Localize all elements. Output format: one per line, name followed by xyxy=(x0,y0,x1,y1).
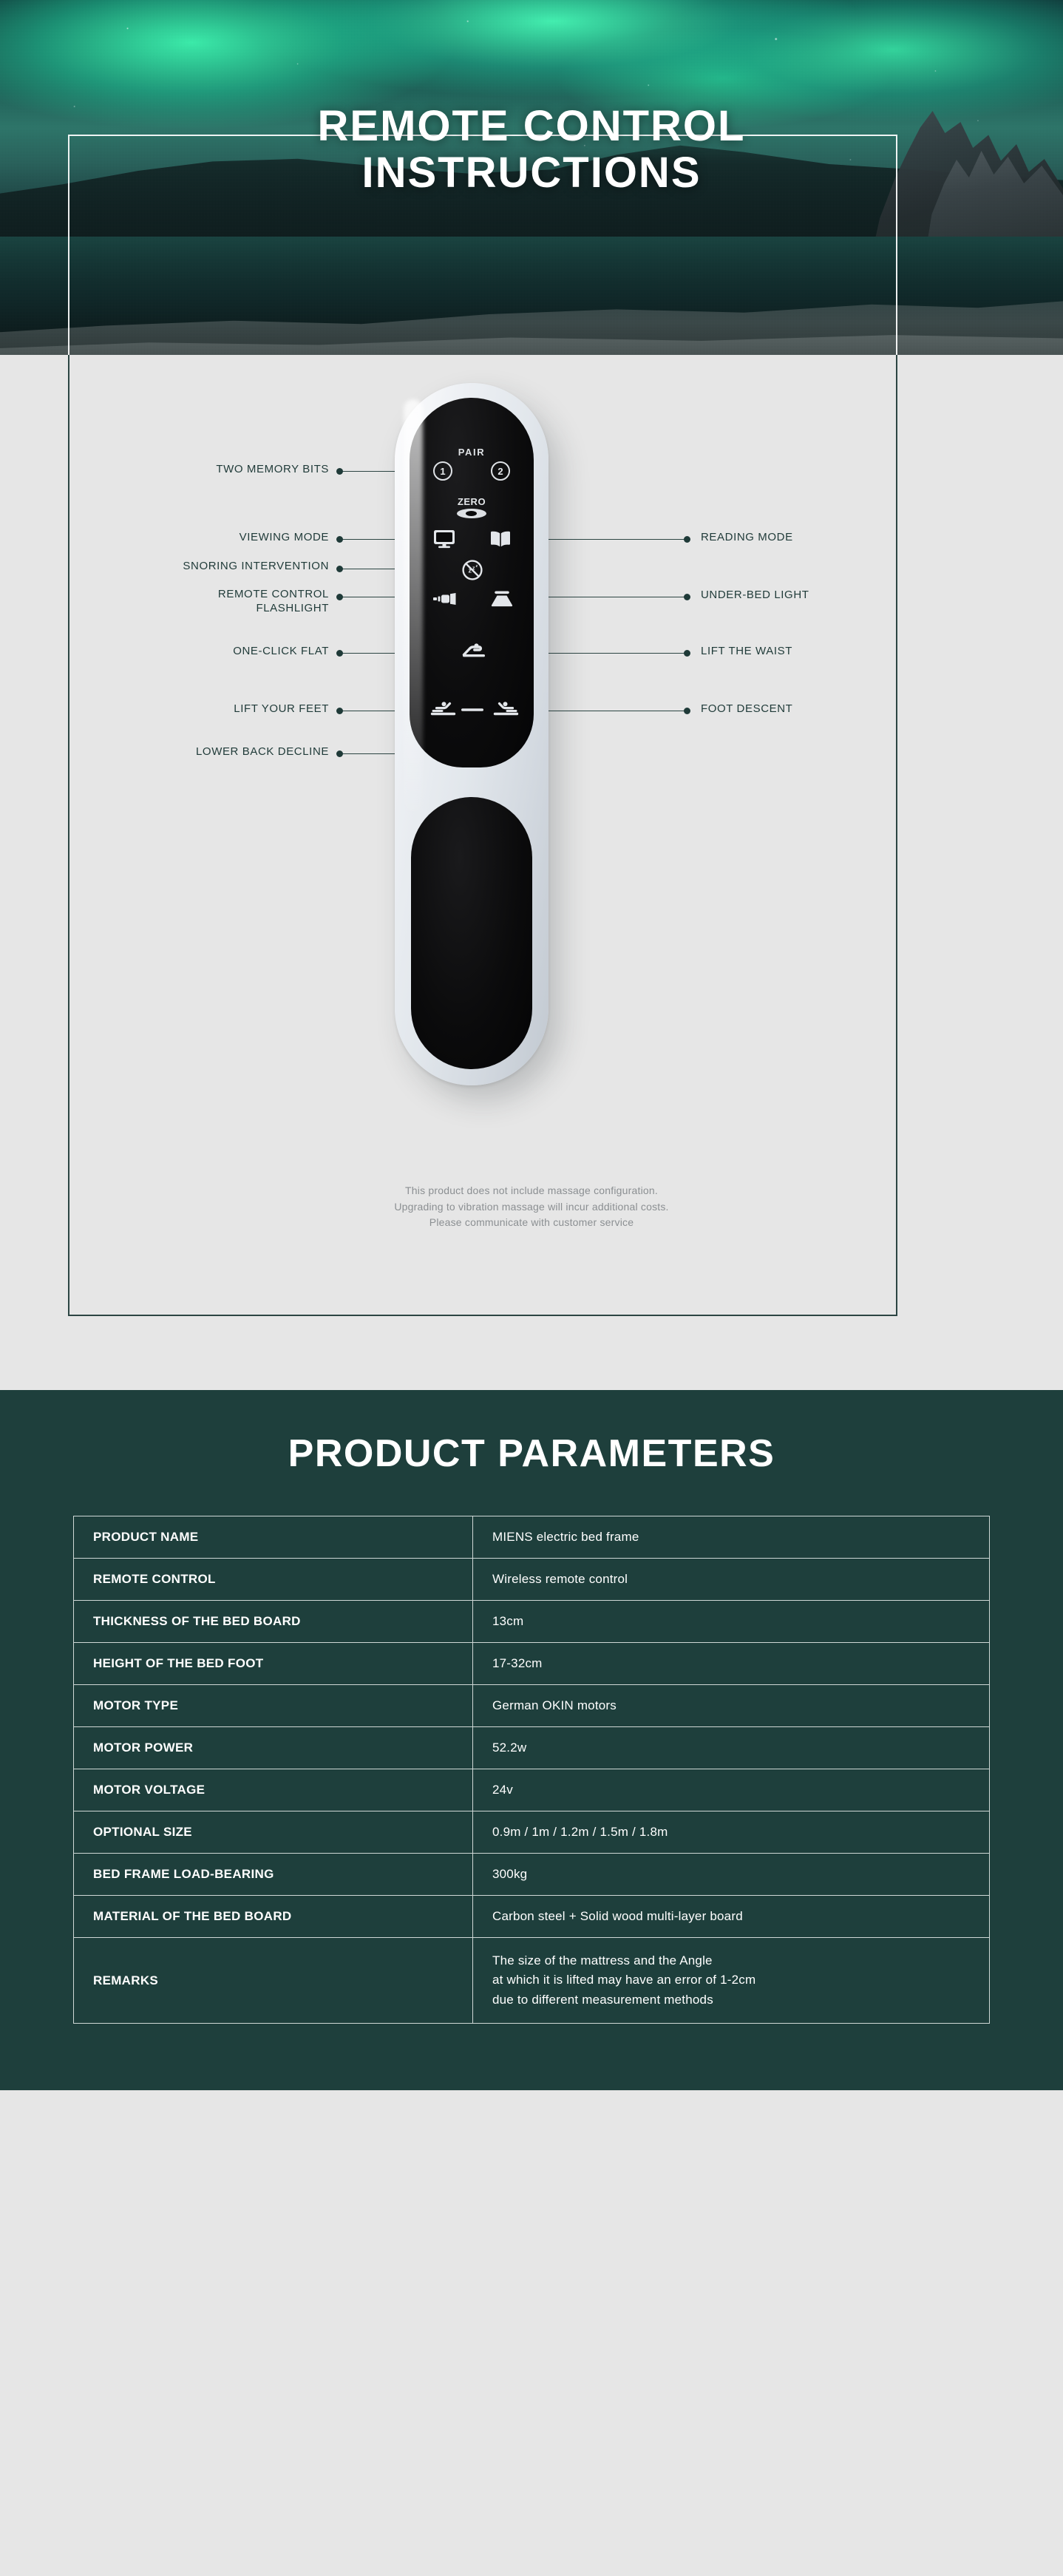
memory-button-1[interactable]: 1 xyxy=(433,461,452,481)
table-row: MATERIAL OF THE BED BOARD Carbon steel +… xyxy=(74,1896,990,1938)
spec-value: Wireless remote control xyxy=(473,1559,990,1601)
callout-dot-lift-your-feet xyxy=(336,708,343,714)
remote-lower-black-panel xyxy=(411,797,532,1069)
memory-2-circle: 2 xyxy=(491,461,510,481)
callout-label-reading-mode: READING MODE xyxy=(701,531,952,545)
callout-label-lower-back-decline: LOWER BACK DECLINE xyxy=(85,745,329,759)
table-row: HEIGHT OF THE BED FOOT 17-32cm xyxy=(74,1643,990,1685)
spec-value: 17-32cm xyxy=(473,1643,990,1685)
callout-label-viewing-mode: VIEWING MODE xyxy=(107,531,329,545)
page-title-line-2: INSTRUCTIONS xyxy=(103,150,960,197)
callout-dot-one-click-flat xyxy=(336,650,343,657)
callout-label-flashlight-line-2: FLASHLIGHT xyxy=(92,602,329,616)
spec-value: 24v xyxy=(473,1769,990,1811)
callout-dot-lower-back-decline xyxy=(336,750,343,757)
spec-value: 13cm xyxy=(473,1601,990,1643)
callout-dot-viewing-mode xyxy=(336,536,343,543)
spec-key: MOTOR POWER xyxy=(74,1727,473,1769)
spec-value: 0.9m / 1m / 1.2m / 1.5m / 1.8m xyxy=(473,1811,990,1854)
spec-value: MIENS electric bed frame xyxy=(473,1516,990,1559)
remarks-line-3: due to different measurement methods xyxy=(492,1990,970,2010)
memory-1-circle: 1 xyxy=(433,461,452,481)
remarks-line-1: The size of the mattress and the Angle xyxy=(492,1951,970,1970)
memory-1-label: 1 xyxy=(440,466,445,477)
svg-text:z: z xyxy=(469,567,472,574)
memory-2-label: 2 xyxy=(497,466,503,477)
callout-label-snoring-intervention: SNORING INTERVENTION xyxy=(70,560,329,574)
tv-screen-icon[interactable] xyxy=(433,529,455,549)
page-title-line-1: REMOTE CONTROL xyxy=(103,104,960,150)
callout-dot-two-memory-bits xyxy=(336,468,343,475)
callout-dot-lift-the-waist xyxy=(684,650,690,657)
spec-key: MATERIAL OF THE BED BOARD xyxy=(74,1896,473,1938)
spec-key: HEIGHT OF THE BED FOOT xyxy=(74,1643,473,1685)
callout-label-under-bed-light: UNDER-BED LIGHT xyxy=(701,589,952,603)
pair-label: PAIR xyxy=(395,447,549,458)
flashlight-icon[interactable] xyxy=(433,593,457,605)
callout-dot-foot-descent xyxy=(684,708,690,714)
spec-key: PRODUCT NAME xyxy=(74,1516,473,1559)
lift-waist-icon[interactable] xyxy=(461,643,486,660)
spec-value-remarks: The size of the mattress and the Angle a… xyxy=(473,1938,990,2024)
spec-key: MOTOR TYPE xyxy=(74,1685,473,1727)
spec-key: THICKNESS OF THE BED BOARD xyxy=(74,1601,473,1643)
table-row: THICKNESS OF THE BED BOARD 13cm xyxy=(74,1601,990,1643)
table-row: OPTIONAL SIZE 0.9m / 1m / 1.2m / 1.5m / … xyxy=(74,1811,990,1854)
table-row: MOTOR TYPE German OKIN motors xyxy=(74,1685,990,1727)
table-row: MOTOR POWER 52.2w xyxy=(74,1727,990,1769)
callout-dot-snoring-intervention xyxy=(336,566,343,572)
spec-key-remarks: REMARKS xyxy=(74,1938,473,2024)
callout-label-flashlight: REMOTE CONTROL FLASHLIGHT xyxy=(92,588,329,616)
spec-key: MOTOR VOLTAGE xyxy=(74,1769,473,1811)
lift-feet-icon[interactable] xyxy=(430,701,457,717)
lower-back-decline-icon[interactable] xyxy=(461,705,483,711)
table-row: REMOTE CONTROL Wireless remote control xyxy=(74,1559,990,1601)
spec-value: 52.2w xyxy=(473,1727,990,1769)
specifications-table-body: PRODUCT NAME MIENS electric bed frame RE… xyxy=(74,1516,990,2024)
spec-key: BED FRAME LOAD-BEARING xyxy=(74,1854,473,1896)
spec-value: Carbon steel + Solid wood multi-layer bo… xyxy=(473,1896,990,1938)
callout-dot-under-bed-light xyxy=(684,594,690,600)
callout-dot-flashlight xyxy=(336,594,343,600)
callout-label-two-memory-bits: TWO MEMORY BITS xyxy=(107,463,329,477)
zero-g-button[interactable] xyxy=(395,509,549,518)
zero-g-label: ZERO xyxy=(395,497,549,506)
remarks-line-2: at which it is lifted may have an error … xyxy=(492,1970,970,1990)
spec-key: REMOTE CONTROL xyxy=(74,1559,473,1601)
callout-label-lift-the-waist: LIFT THE WAIST xyxy=(701,645,952,659)
no-snoring-icon[interactable]: z z z xyxy=(461,559,483,581)
massage-disclaimer: This product does not include massage co… xyxy=(0,1183,1063,1231)
under-bed-light-icon[interactable] xyxy=(489,590,514,608)
foot-descent-icon[interactable] xyxy=(492,701,519,717)
callout-dot-reading-mode xyxy=(684,536,690,543)
callout-label-foot-descent: FOOT DESCENT xyxy=(701,702,952,716)
callout-label-flashlight-line-1: REMOTE CONTROL xyxy=(92,588,329,602)
table-row: MOTOR VOLTAGE 24v xyxy=(74,1769,990,1811)
disclaimer-line-3: Please communicate with customer service xyxy=(0,1215,1063,1231)
table-row: PRODUCT NAME MIENS electric bed frame xyxy=(74,1516,990,1559)
svg-text:z: z xyxy=(472,566,475,572)
specifications-table: PRODUCT NAME MIENS electric bed frame RE… xyxy=(73,1516,990,2024)
memory-button-2[interactable]: 2 xyxy=(491,461,510,481)
table-row-remarks: REMARKS The size of the mattress and the… xyxy=(74,1938,990,2024)
callout-label-lift-your-feet: LIFT YOUR FEET xyxy=(107,702,329,716)
open-book-icon[interactable] xyxy=(489,529,512,549)
product-parameters-section: PRODUCT PARAMETERS PRODUCT NAME MIENS el… xyxy=(0,1390,1063,2090)
product-parameters-title: PRODUCT PARAMETERS xyxy=(0,1431,1063,1476)
disclaimer-line-2: Upgrading to vibration massage will incu… xyxy=(0,1199,1063,1216)
table-row: BED FRAME LOAD-BEARING 300kg xyxy=(74,1854,990,1896)
remote-instructions-panel: TWO MEMORY BITS VIEWING MODE SNORING INT… xyxy=(0,355,1063,1390)
zero-g-glyph xyxy=(457,509,486,518)
spec-value: 300kg xyxy=(473,1854,990,1896)
page-title: REMOTE CONTROL INSTRUCTIONS xyxy=(0,104,1063,196)
svg-text:z: z xyxy=(476,564,478,569)
hero-banner: REMOTE CONTROL INSTRUCTIONS xyxy=(0,0,1063,355)
callout-label-one-click-flat: ONE-CLICK FLAT xyxy=(107,645,329,659)
remote-control-device: PAIR 1 2 ZERO xyxy=(395,383,549,1085)
spec-key: OPTIONAL SIZE xyxy=(74,1811,473,1854)
disclaimer-line-1: This product does not include massage co… xyxy=(0,1183,1063,1199)
spec-value: German OKIN motors xyxy=(473,1685,990,1727)
